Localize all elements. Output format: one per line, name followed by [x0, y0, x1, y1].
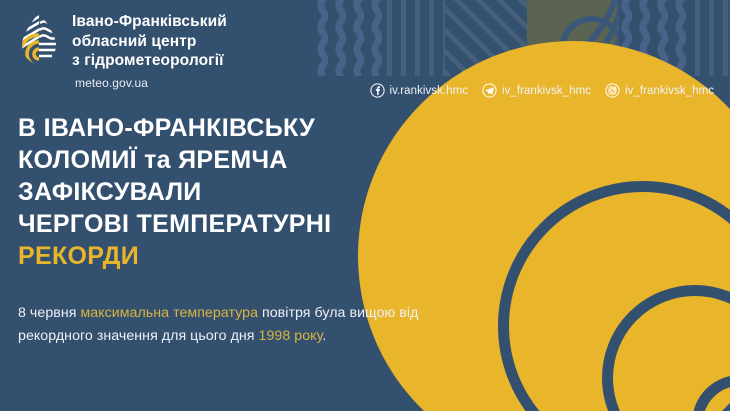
- telegram-handle: iv_frankivsk_hmc: [502, 85, 591, 97]
- body-paragraph: 8 червня максимальна температура повітря…: [18, 302, 468, 347]
- headline-line-2: КОЛОМИЇ та ЯРЕМЧА: [18, 144, 468, 176]
- social-links-bar: iv.rankivsk.hmc iv_frankivsk_hmc iv_: [370, 83, 715, 98]
- body-highlight-2: 1998 року: [259, 328, 323, 344]
- social-link-facebook[interactable]: iv.rankivsk.hmc: [370, 83, 469, 98]
- wave-pattern-block-2: [619, 0, 695, 76]
- body-text-part-1: 8 червня: [18, 305, 80, 321]
- wave-pattern-block: [315, 0, 387, 76]
- poster-canvas: Івано-Франківський обласний центр з гідр…: [0, 0, 730, 411]
- instagram-icon: [605, 83, 620, 98]
- website-url[interactable]: meteo.gov.ua: [75, 76, 227, 90]
- vertical-stripe-block: [387, 0, 445, 76]
- social-link-telegram[interactable]: iv_frankivsk_hmc: [482, 83, 591, 98]
- logo-text-group: Івано-Франківський обласний центр з гідр…: [72, 12, 227, 90]
- social-link-instagram[interactable]: iv_frankivsk_hmc: [605, 83, 714, 98]
- decorative-pattern-strip: [315, 0, 730, 76]
- body-text-part-3: .: [322, 328, 326, 344]
- headline-line-4: ЧЕРГОВІ ТЕМПЕРАТУРНІ: [18, 208, 468, 240]
- instagram-handle: iv_frankivsk_hmc: [625, 85, 714, 97]
- facebook-handle: iv.rankivsk.hmc: [390, 85, 469, 97]
- headline: В ІВАНО-ФРАНКІВСЬКУ КОЛОМИЇ та ЯРЕМЧА ЗА…: [18, 112, 468, 272]
- diagonal-stripe-block: [445, 0, 527, 76]
- headline-line-1: В ІВАНО-ФРАНКІВСЬКУ: [18, 112, 468, 144]
- headline-line-3: ЗАФІКСУВАЛИ: [18, 176, 468, 208]
- telegram-icon: [482, 83, 497, 98]
- body-highlight-1: максимальна температура: [80, 305, 258, 321]
- concentric-arc-block: [527, 0, 619, 76]
- headline-line-5-accent: РЕКОРДИ: [18, 240, 468, 272]
- vertical-stripe-block-2: [695, 0, 730, 76]
- organization-name: Івано-Франківський обласний центр з гідр…: [72, 12, 227, 71]
- water-droplet-sun-logo: [18, 12, 60, 68]
- facebook-icon: [370, 83, 385, 98]
- logo-block: Івано-Франківський обласний центр з гідр…: [18, 12, 227, 90]
